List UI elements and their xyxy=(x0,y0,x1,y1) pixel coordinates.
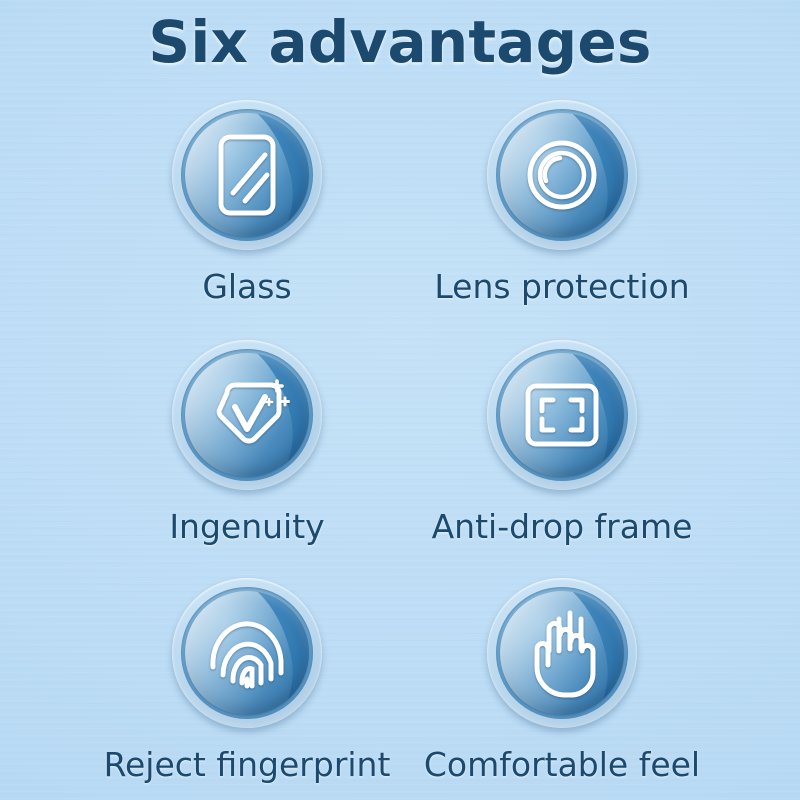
feature-label: Glass xyxy=(87,266,407,308)
feature-grid: Glass Lens protection xyxy=(0,100,800,800)
badge-disc xyxy=(185,113,309,237)
page-title: Six advantages xyxy=(0,6,800,78)
feature-badge[interactable] xyxy=(487,578,637,728)
feature-badge[interactable] xyxy=(172,578,322,728)
badge-gloss xyxy=(500,113,620,237)
feature-badge[interactable] xyxy=(487,100,637,250)
badge-disc xyxy=(500,353,624,477)
badge-gloss xyxy=(185,591,305,715)
feature-label: Lens protection xyxy=(402,266,722,308)
feature-badge[interactable] xyxy=(172,100,322,250)
feature-label: Reject fingerprint xyxy=(87,744,407,786)
badge-disc xyxy=(500,113,624,237)
feature-item-anti-drop-frame[interactable]: Anti-drop frame xyxy=(402,340,722,548)
feature-label: Ingenuity xyxy=(87,506,407,548)
feature-item-lens-protection[interactable]: Lens protection xyxy=(402,100,722,308)
feature-label: Comfortable feel xyxy=(402,744,722,786)
badge-gloss xyxy=(500,591,620,715)
feature-badge[interactable] xyxy=(487,340,637,490)
feature-item-reject-fingerprint[interactable]: Reject fingerprint xyxy=(87,578,407,786)
badge-gloss xyxy=(185,113,305,237)
badge-disc xyxy=(500,591,624,715)
feature-label: Anti-drop frame xyxy=(402,506,722,548)
badge-gloss xyxy=(185,353,305,477)
feature-badge[interactable] xyxy=(172,340,322,490)
badge-disc xyxy=(185,591,309,715)
badge-gloss xyxy=(500,353,620,477)
feature-item-comfortable-feel[interactable]: Comfortable feel xyxy=(402,578,722,786)
poster-root: Six advantages Glass xyxy=(0,0,800,800)
feature-item-ingenuity[interactable]: Ingenuity xyxy=(87,340,407,548)
feature-item-glass[interactable]: Glass xyxy=(87,100,407,308)
badge-disc xyxy=(185,353,309,477)
